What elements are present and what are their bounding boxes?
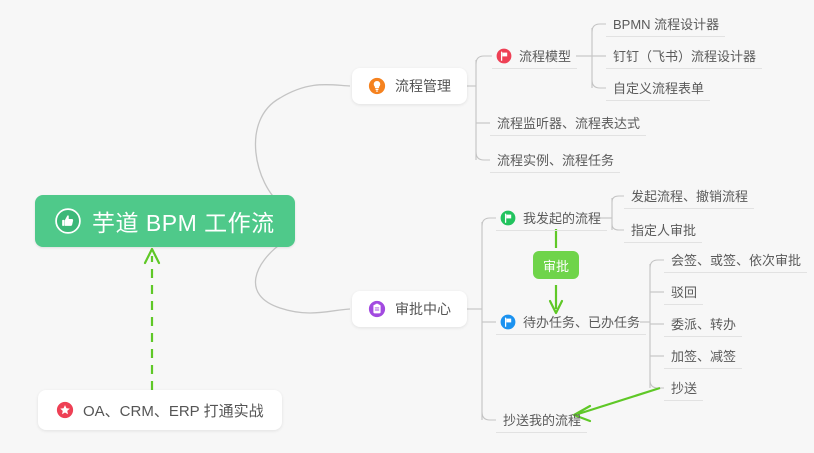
node-label: 委派、转办: [671, 314, 736, 333]
node-label: 流程监听器、流程表达式: [497, 113, 640, 132]
node-custom-process-form[interactable]: 自定义流程表单: [606, 75, 710, 101]
edge-root-to-process-management: [255, 85, 350, 205]
edge-td-to-countersign: [650, 260, 664, 268]
node-start-cancel[interactable]: 发起流程、撤销流程: [624, 183, 754, 209]
node-process-model[interactable]: 流程模型: [492, 43, 577, 69]
edge-td-to-carbon-copy: [650, 380, 664, 388]
node-label: 驳回: [671, 282, 697, 301]
node-label: 抄送我的流程: [503, 410, 581, 429]
node-label: BPMN 流程设计器: [613, 14, 719, 33]
branch-process-management[interactable]: 流程管理: [352, 68, 467, 104]
node-dingtalk-feishu-designer[interactable]: 钉钉（飞书）流程设计器: [606, 43, 762, 69]
lightbulb-pin-icon: [368, 77, 386, 95]
node-assignee-approval[interactable]: 指定人审批: [624, 217, 702, 243]
root-node[interactable]: 芋道 BPM 工作流: [35, 195, 295, 247]
node-label: 待办任务、已办任务: [523, 312, 640, 331]
node-add-remove-sign[interactable]: 加签、减签: [664, 343, 742, 369]
edge-pm-to-instance: [476, 152, 490, 160]
branch-approval-center[interactable]: 审批中心: [352, 291, 467, 327]
node-label: 钉钉（飞书）流程设计器: [613, 46, 756, 65]
node-bpmn-designer[interactable]: BPMN 流程设计器: [606, 11, 725, 37]
node-instance-task[interactable]: 流程实例、流程任务: [490, 147, 620, 173]
branch-label: 审批中心: [395, 299, 451, 319]
edge-pm-to-process-model: [476, 56, 492, 64]
node-label: 指定人审批: [631, 220, 696, 239]
edge-model-to-bpmn: [592, 24, 606, 32]
mindmap-canvas: 芋道 BPM 工作流 流程管理 流程模型 BPMN 流程设计器 钉钉（飞书）流程: [0, 0, 814, 453]
node-listener-expression[interactable]: 流程监听器、流程表达式: [490, 110, 646, 136]
node-cc-my-process[interactable]: 抄送我的流程: [496, 407, 587, 433]
flag-icon: [500, 314, 516, 330]
star-icon: [56, 401, 74, 419]
node-delegate-transfer[interactable]: 委派、转办: [664, 311, 742, 337]
note-label: OA、CRM、ERP 打通实战: [83, 400, 264, 421]
arrow-cc-to-cc-my-process: [578, 388, 660, 414]
thumbs-up-icon: [55, 208, 81, 234]
node-todo-done-tasks[interactable]: 待办任务、已办任务: [496, 309, 646, 335]
flag-icon: [496, 48, 512, 64]
edge-ac-to-cc-my-process: [482, 412, 496, 420]
node-label: 流程模型: [519, 46, 571, 65]
node-label: 加签、减签: [671, 346, 736, 365]
clipboard-icon: [368, 300, 386, 318]
node-countersign[interactable]: 会签、或签、依次审批: [664, 247, 807, 273]
edge-mi-to-assignee: [612, 224, 624, 230]
edge-model-to-custom-form: [592, 80, 606, 88]
node-label: 会签、或签、依次审批: [671, 250, 801, 269]
branch-label: 流程管理: [395, 76, 451, 96]
node-label: 流程实例、流程任务: [497, 150, 614, 169]
node-label: 我发起的流程: [523, 208, 601, 227]
edge-root-to-approval-center: [255, 243, 350, 313]
note-oa-crm-erp[interactable]: OA、CRM、ERP 打通实战: [38, 390, 282, 430]
edge-ac-to-my-initiated: [482, 218, 496, 226]
node-label: 抄送: [671, 378, 697, 397]
annotation-approval-tag: 审批: [533, 251, 579, 279]
arrow-head-bottom-note: [145, 249, 159, 263]
node-carbon-copy[interactable]: 抄送: [664, 375, 703, 401]
node-reject[interactable]: 驳回: [664, 279, 703, 305]
node-label: 自定义流程表单: [613, 78, 704, 97]
node-my-initiated[interactable]: 我发起的流程: [496, 205, 607, 231]
flag-icon: [500, 210, 516, 226]
edge-mi-to-start-cancel: [612, 196, 624, 202]
node-label: 发起流程、撤销流程: [631, 186, 748, 205]
approval-tag-label: 审批: [543, 256, 569, 275]
root-label: 芋道 BPM 工作流: [92, 204, 275, 238]
